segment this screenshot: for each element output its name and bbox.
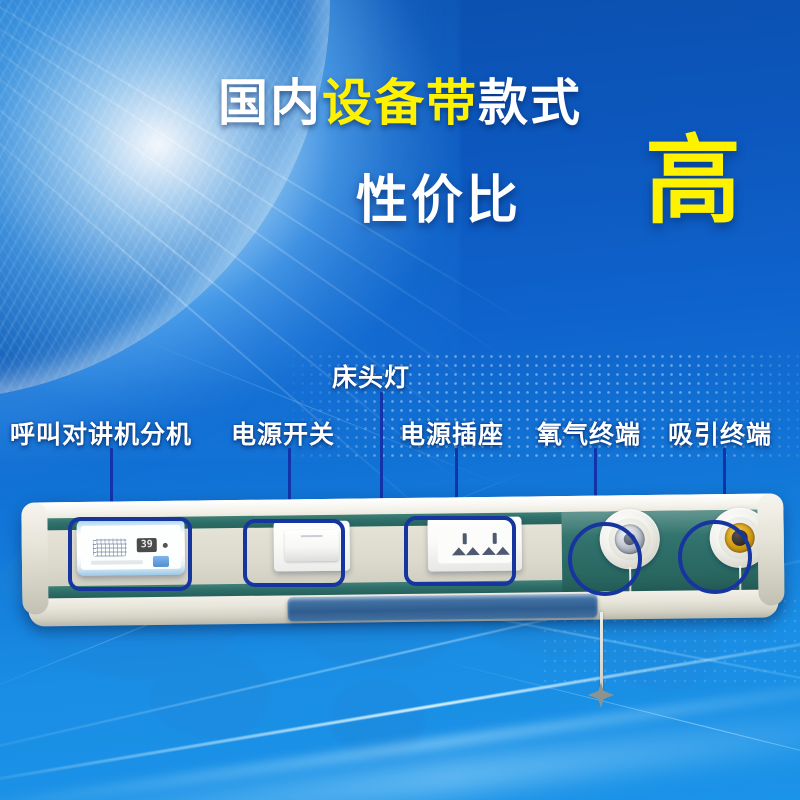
callout-label-intercom: 呼叫对讲机分机 [10, 415, 192, 451]
callout-label-power-switch: 电源开关 [231, 415, 335, 451]
promo-banner-image: 国内设备带款式 性价比 高 床头灯 呼叫对讲机分机 电源开关 电源插座 氧气终端… [0, 0, 800, 800]
callout-label-oxygen: 氧气终端 [537, 415, 641, 451]
callout-label-power-socket: 电源插座 [400, 415, 504, 451]
highlight-circle-suction [678, 520, 752, 594]
panel-end-cap-right [757, 493, 784, 605]
highlight-box-power-socket [404, 516, 516, 586]
highlight-box-power-switch [243, 519, 345, 587]
highlight-circle-oxygen [568, 522, 642, 596]
callout-layer: 床头灯 呼叫对讲机分机 电源开关 电源插座 氧气终端 吸引终端 [0, 0, 800, 800]
panel-end-cap-left [21, 502, 48, 614]
rail-slider-block[interactable] [287, 594, 597, 622]
highlight-box-intercom [68, 517, 192, 591]
callout-label-suction: 吸引终端 [668, 415, 772, 451]
pull-cord[interactable] [600, 612, 603, 690]
callout-label-bed-lamp: 床头灯 [332, 358, 410, 394]
